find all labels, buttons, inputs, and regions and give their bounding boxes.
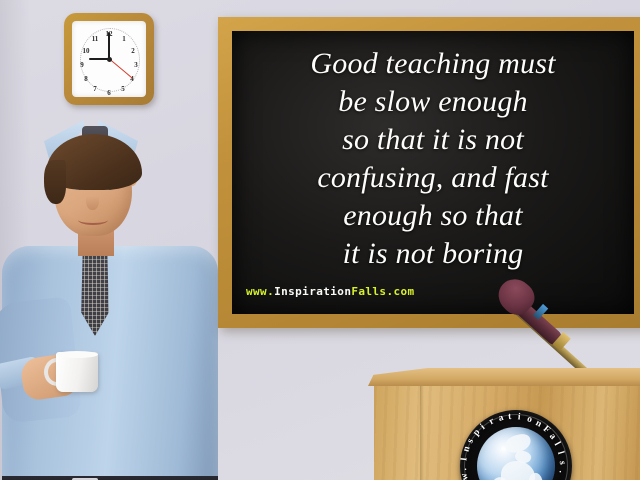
quote-line-1: Good teaching must <box>238 45 628 83</box>
quote-line-4: confusing, and fast <box>238 159 628 197</box>
logo-text-char: a <box>497 413 504 424</box>
clock-number-11: 11 <box>90 35 100 43</box>
podium: www.InspirationFalls.com <box>368 368 640 480</box>
clock-minute-hand <box>108 32 110 59</box>
logo-text-char: s <box>557 460 567 465</box>
logo-text-char: o <box>526 414 533 425</box>
poster-canvas: 12 1 2 3 4 5 6 7 8 9 10 11 <box>0 0 640 480</box>
clock-number-6: 6 <box>104 89 114 97</box>
logo-text-char: t <box>508 412 512 422</box>
clock-number-10: 10 <box>81 47 91 55</box>
logo-text-char: l <box>552 440 562 447</box>
logo-text-char: r <box>488 416 496 427</box>
logo-text-char: n <box>534 418 543 429</box>
url-middle: Inspiration <box>274 285 351 298</box>
mouth-smile <box>78 215 108 225</box>
logo-text-char: l <box>555 450 565 455</box>
logo-text-char: p <box>471 428 482 438</box>
inspirationfalls-globe-logo[interactable]: www.InspirationFalls.com <box>460 410 572 480</box>
mug-rim <box>56 351 98 358</box>
clock-number-2: 2 <box>128 47 138 55</box>
logo-text-char: w <box>460 472 471 480</box>
clock-center-pin <box>107 57 112 62</box>
url-brand: Falls <box>351 285 386 298</box>
clock-face: 12 1 2 3 4 5 6 7 8 9 10 11 <box>72 21 146 97</box>
logo-text-char: n <box>461 445 472 453</box>
quote-text: Good teaching must be slow enough so tha… <box>238 45 628 273</box>
blackboard-surface: Good teaching must be slow enough so tha… <box>232 31 634 314</box>
clock-number-5: 5 <box>118 85 128 93</box>
wall-clock: 12 1 2 3 4 5 6 7 8 9 10 11 <box>64 13 154 105</box>
clock-number-8: 8 <box>81 75 91 83</box>
clock-number-1: 1 <box>119 35 129 43</box>
logo-text-char: i <box>517 412 521 422</box>
logo-curved-text: www.InspirationFalls.com <box>460 410 572 480</box>
website-url[interactable]: www.InspirationFalls.com <box>246 285 415 298</box>
url-prefix: www. <box>246 285 274 298</box>
podium-corner-edge <box>420 383 424 480</box>
clock-number-9: 9 <box>77 61 87 69</box>
quote-line-2: be slow enough <box>238 83 628 121</box>
clock-number-7: 7 <box>90 85 100 93</box>
clock-number-3: 3 <box>131 61 141 69</box>
coffee-mug <box>56 352 98 392</box>
logo-text-char: . <box>557 470 567 473</box>
belt <box>2 476 218 480</box>
quote-line-5: enough so that <box>238 197 628 235</box>
nose <box>86 190 99 210</box>
podium-top-ledge <box>368 368 640 386</box>
logo-text-char: s <box>465 437 476 445</box>
url-suffix: .com <box>386 285 414 298</box>
logo-text-char: a <box>547 432 558 442</box>
logo-text-char: . <box>460 468 469 471</box>
quote-line-6: it is not boring <box>238 235 628 273</box>
businessman-figure <box>0 120 224 480</box>
logo-text-char: i <box>479 423 487 432</box>
logo-text-char: I <box>460 457 470 462</box>
quote-line-3: so that it is not <box>238 121 628 159</box>
